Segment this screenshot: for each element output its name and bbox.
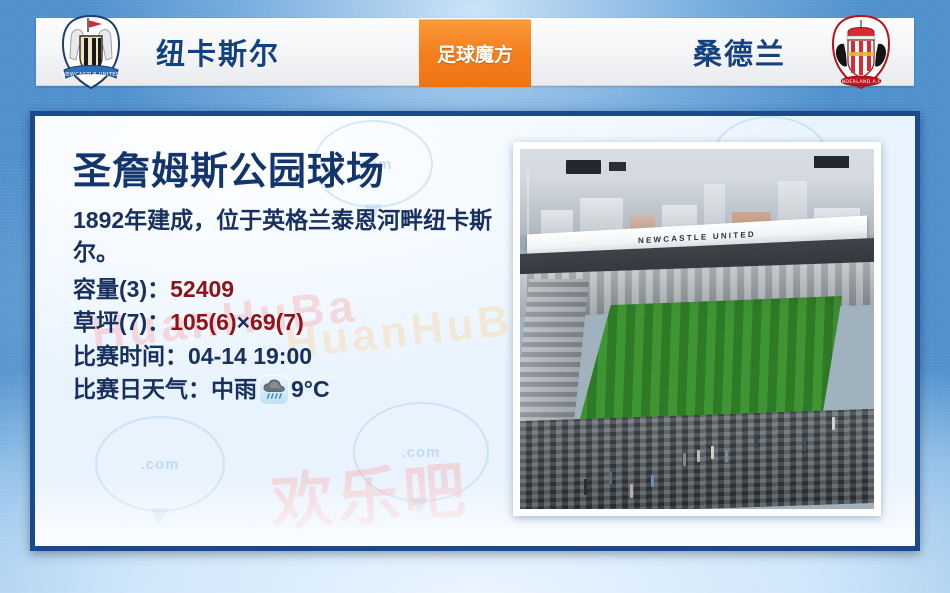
pitch-width: 69(7) xyxy=(250,306,304,339)
weather-condition: 中雨 xyxy=(211,373,257,406)
match-time-label: 比赛时间 xyxy=(73,340,165,373)
away-team-name: 桑德兰 xyxy=(693,31,786,73)
newcastle-united-crest: NEWCASTLE UNITED xyxy=(58,14,124,90)
capacity-colon: ： xyxy=(147,273,170,306)
match-header-bar: NEWCASTLE UNITED 纽卡斯尔 足球魔方 桑德兰 SUNDERLAN… xyxy=(36,18,914,86)
stadium-description: 1892年建成，位于英格兰泰恩河畔纽卡斯尔。 xyxy=(73,204,493,269)
moderate-rain-cloud-icon xyxy=(259,375,289,405)
match-time-row: 比赛时间 ： 04-14 19:00 xyxy=(73,340,493,373)
watermark-brand-cn: 欢乐吧 xyxy=(268,439,472,543)
stadium-info-block: 圣詹姆斯公园球场 1892年建成，位于英格兰泰恩河畔纽卡斯尔。 容量(3) ： … xyxy=(73,152,493,406)
stadium-photo-frame: NEWCASTLE UNITED xyxy=(513,142,881,516)
watermark-bubble-bottom-mid: .com xyxy=(353,402,489,502)
svg-text:SUNDERLAND A.F.C.: SUNDERLAND A.F.C. xyxy=(835,79,888,85)
home-team-name: 纽卡斯尔 xyxy=(156,31,280,73)
stadium-photo: NEWCASTLE UNITED xyxy=(520,149,874,509)
weather-colon: ： xyxy=(188,373,211,406)
pitch-multiply-sign: × xyxy=(237,306,250,339)
stadium-title: 圣詹姆斯公园球场 xyxy=(73,152,493,194)
pitch-colon: ： xyxy=(147,306,170,339)
capacity-value: 52409 xyxy=(170,273,234,306)
watermark-bubble-bottom-left: .com xyxy=(95,416,225,512)
site-logo-badge[interactable]: 足球魔方 xyxy=(419,19,531,87)
site-logo-text: 足球魔方 xyxy=(437,40,513,67)
capacity-label: 容量(3) xyxy=(73,273,147,306)
pitch-label: 草坪(7) xyxy=(73,306,147,339)
match-weather-row: 比赛日天气 ： 中雨 9°C xyxy=(73,373,493,406)
pitch-length: 105(6) xyxy=(170,306,236,339)
weather-temperature: 9°C xyxy=(291,373,330,406)
sunderland-afc-crest: SUNDERLAND A.F.C. xyxy=(828,14,894,90)
stadium-info-panel: .com .com .com .com HuanHuBa HuanHuBa Hu… xyxy=(30,111,920,551)
match-time-value: 04-14 19:00 xyxy=(188,340,312,373)
weather-label: 比赛日天气 xyxy=(73,373,188,406)
pitch-size-row: 草坪(7) ： 105(6) × 69(7) xyxy=(73,306,493,339)
svg-text:NEWCASTLE UNITED: NEWCASTLE UNITED xyxy=(62,72,120,78)
stadium-roof-caption: NEWCASTLE UNITED xyxy=(638,229,756,245)
match-time-colon: ： xyxy=(165,340,188,373)
capacity-row: 容量(3) ： 52409 xyxy=(73,273,493,306)
